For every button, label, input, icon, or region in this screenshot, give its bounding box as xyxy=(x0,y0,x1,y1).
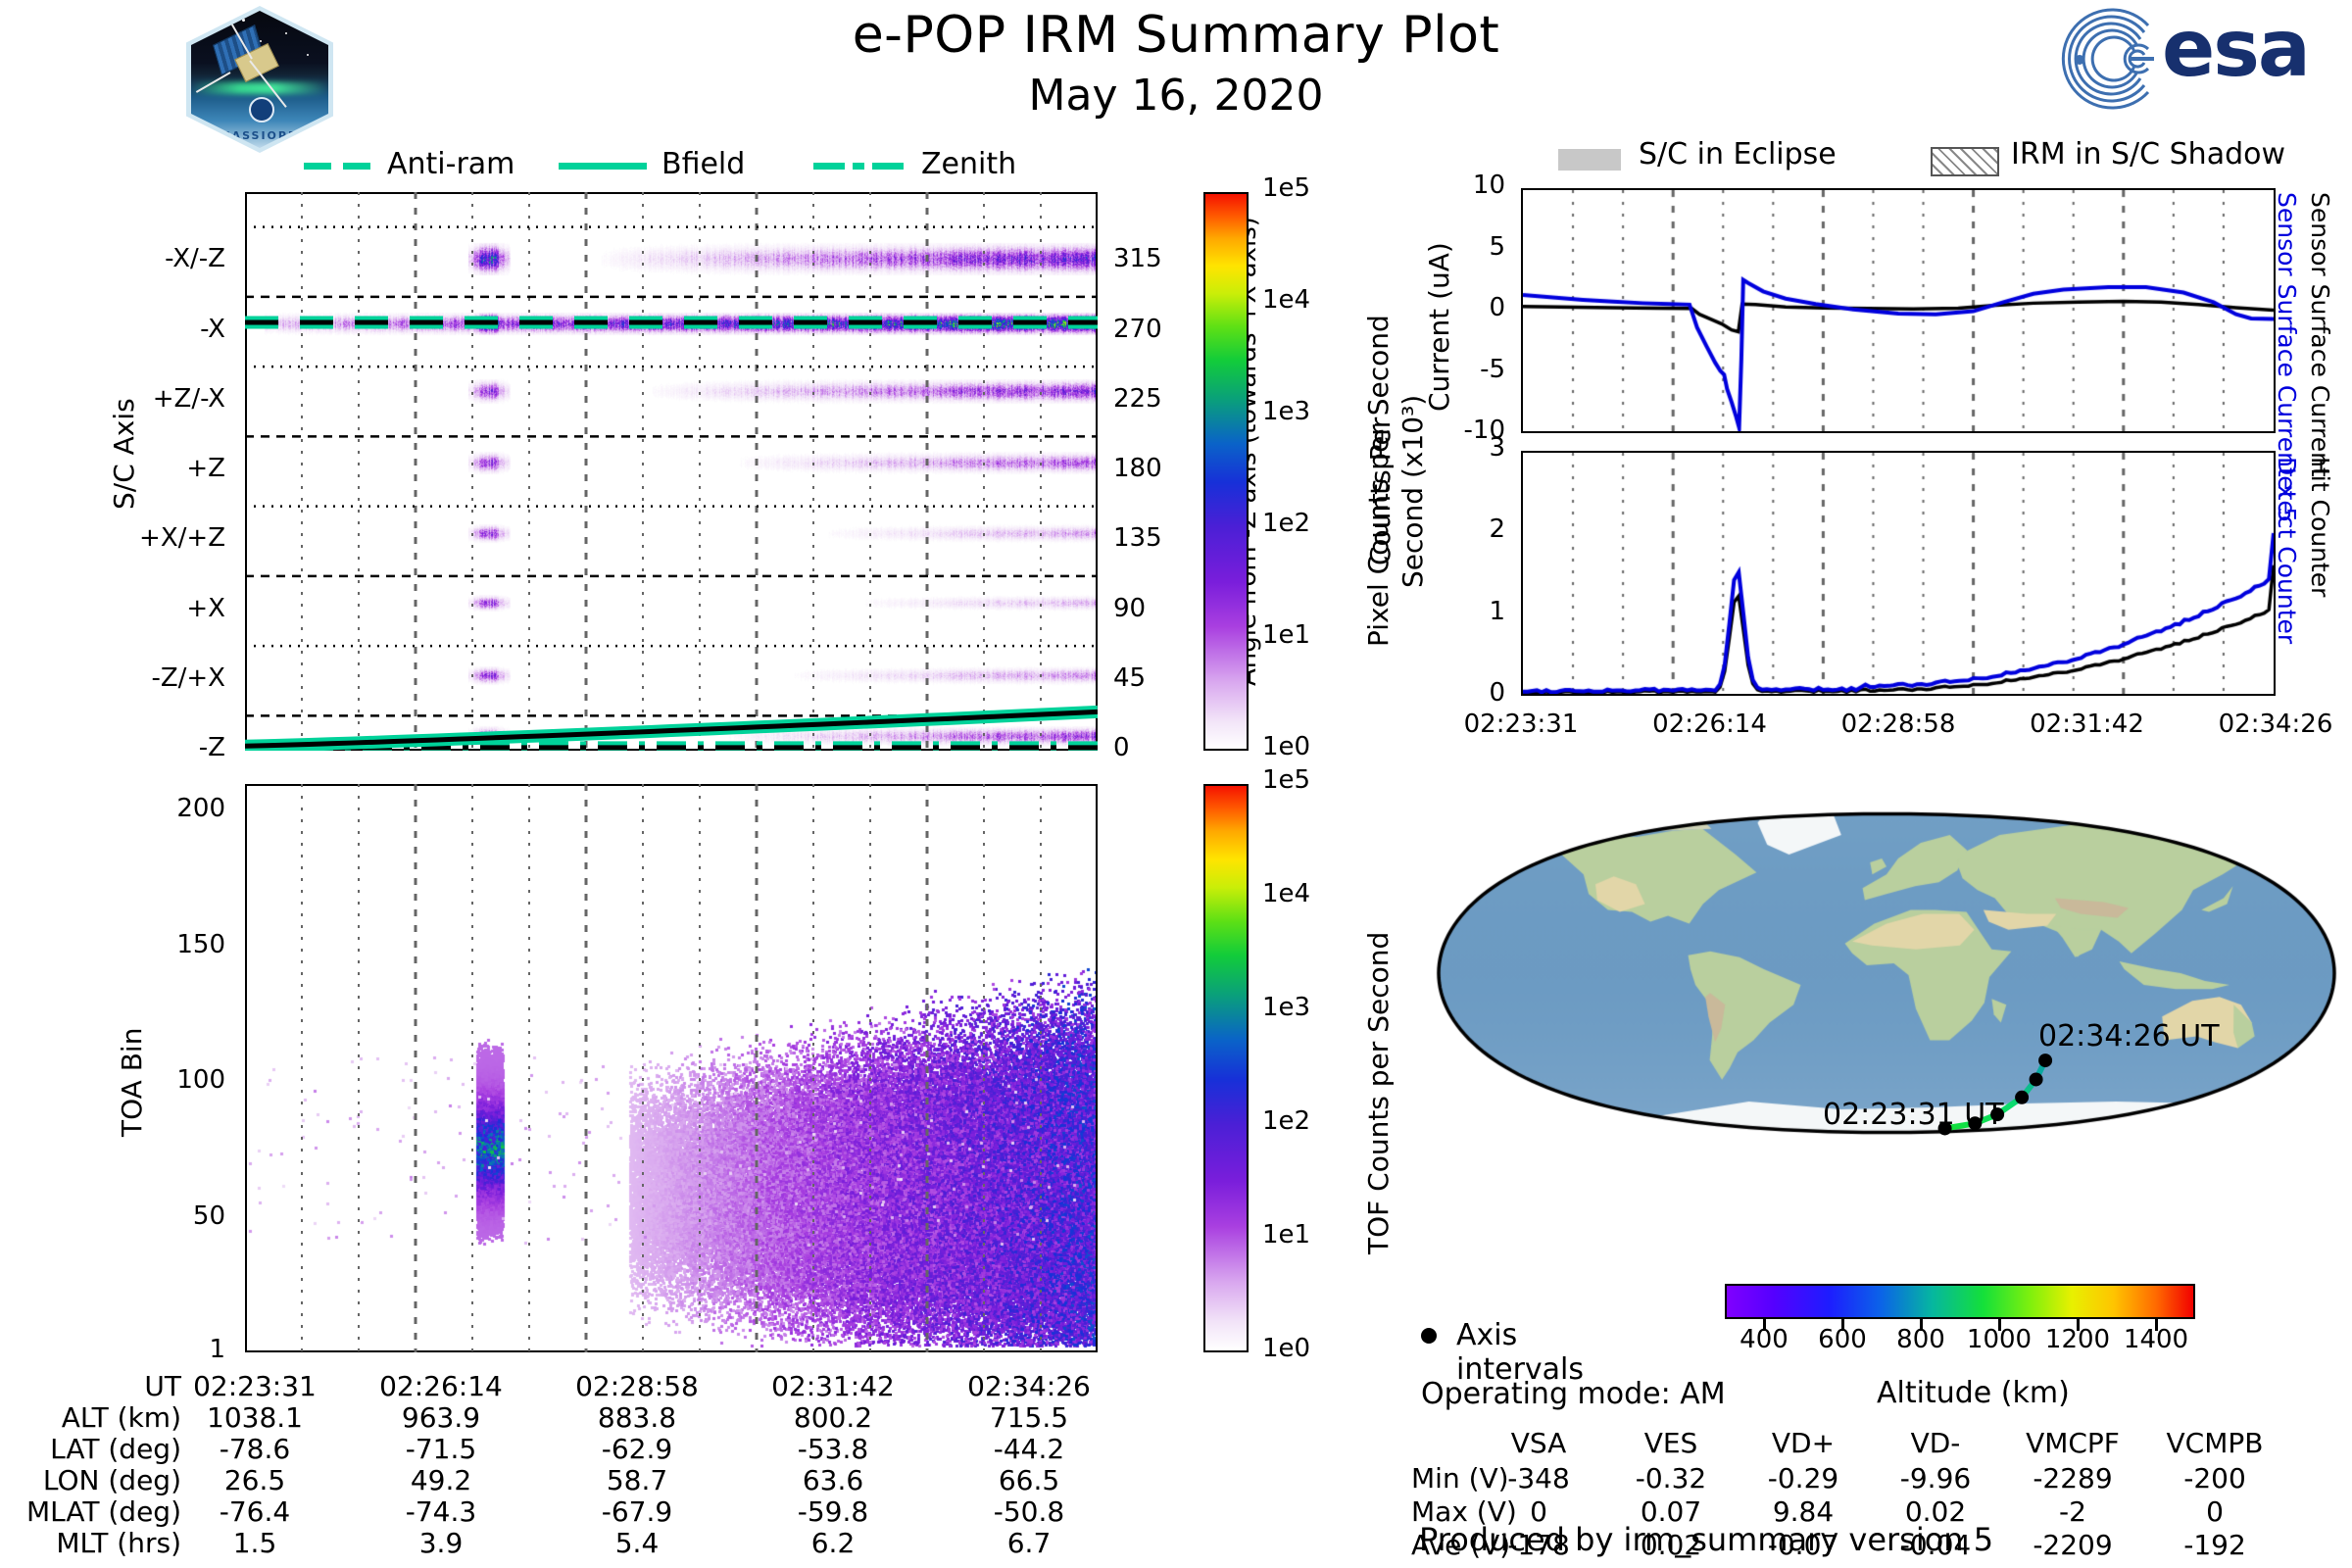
timeseries-xtick-3: 02:31:42 xyxy=(1980,710,2195,739)
operating-mode-label: Operating mode: AM xyxy=(1421,1377,1726,1411)
timeseries-xtick-1: 02:26:14 xyxy=(1602,710,1818,739)
toa-tick-4: 1 xyxy=(0,1335,225,1364)
toa-tick-0: 200 xyxy=(0,794,225,823)
toa-image xyxy=(247,786,1096,1350)
timeseries-xtick-2: 02:28:58 xyxy=(1790,710,2006,739)
track-start-label: 02:23:31 UT xyxy=(1823,1098,2004,1132)
ephemeris-cell-4-2: -67.9 xyxy=(549,1495,725,1528)
current-right-label-black: Sensor Surface Current xyxy=(2306,192,2334,477)
ephemeris-cell-1-4: 715.5 xyxy=(941,1401,1117,1434)
pixel-cb-tick-1: 1e4 xyxy=(1262,285,1310,315)
ephemeris-cell-3-2: 58.7 xyxy=(549,1464,725,1496)
ephemeris-cell-2-1: -71.5 xyxy=(353,1433,529,1465)
voltage-cell-0-3: -9.96 xyxy=(1867,1462,2004,1494)
pixel-colorbar xyxy=(1203,192,1249,751)
ephemeris-cell-0-0: 02:23:31 xyxy=(167,1370,343,1402)
toa-bin-spectrogram xyxy=(245,784,1098,1352)
voltage-table: VSAVESVD+VD-VMCPFVCMPBMin (V)-348-0.32-0… xyxy=(1411,1427,2352,1535)
legend-label-anti-ram: Anti-ram xyxy=(387,147,514,181)
ephemeris-row-label-4: MLAT (deg) xyxy=(0,1495,181,1528)
anti-ram-swatch xyxy=(304,163,331,170)
legend-label-shadow: IRM in S/C Shadow xyxy=(2011,137,2285,171)
angle-tick-7: 0 xyxy=(1113,733,1130,762)
esa-swirl-icon xyxy=(2046,6,2162,112)
tof-cb-tick-3: 1e2 xyxy=(1262,1106,1310,1136)
angle-tick-0: 315 xyxy=(1113,244,1162,273)
counts-right-label-blue: Detect Counter xyxy=(2273,457,2301,644)
timeseries-xtick-0: 02:23:31 xyxy=(1413,710,1629,739)
eclipse-swatch xyxy=(1558,149,1621,171)
spectrogram-image xyxy=(247,194,1096,749)
counts-ylabel: Counts Per Second (x10³) xyxy=(1364,395,1429,588)
orbit-track-point-3 xyxy=(2015,1091,2029,1104)
voltage-cell-1-4: -2 xyxy=(2004,1495,2141,1528)
voltage-col-header-5: VCMPB xyxy=(2146,1427,2283,1459)
ephemeris-cell-1-2: 883.8 xyxy=(549,1401,725,1434)
voltage-cell-0-0: -348 xyxy=(1470,1462,1607,1494)
ephemeris-cell-3-4: 66.5 xyxy=(941,1464,1117,1496)
current-tick-0: 10 xyxy=(1372,171,1505,200)
ephemeris-cell-5-3: 6.2 xyxy=(745,1527,921,1559)
esa-logo: esa xyxy=(2046,6,2340,114)
angle-tick-2: 225 xyxy=(1113,384,1162,414)
ephemeris-cell-0-2: 02:28:58 xyxy=(549,1370,725,1402)
altitude-colorbar-label: Altitude (km) xyxy=(1877,1376,2070,1410)
ephemeris-cell-1-0: 1038.1 xyxy=(167,1401,343,1434)
ephemeris-row-label-5: MLT (hrs) xyxy=(0,1527,181,1559)
track-end-label: 02:34:26 UT xyxy=(2038,1019,2220,1053)
page-date: May 16, 2020 xyxy=(0,71,2352,121)
pixel-cb-tick-5: 1e0 xyxy=(1262,732,1310,761)
altitude-tickmark-5 xyxy=(2155,1319,2158,1331)
pixel-cb-tick-0: 1e5 xyxy=(1262,173,1310,203)
angle-tick-3: 180 xyxy=(1113,454,1162,483)
altitude-tickmark-3 xyxy=(1998,1319,2001,1331)
legend-label-zenith: Zenith xyxy=(921,147,1016,181)
voltage-cell-2-4: -2209 xyxy=(2004,1529,2141,1561)
ephemeris-cell-0-3: 02:31:42 xyxy=(745,1370,921,1402)
orbit-track-point-5 xyxy=(2038,1053,2052,1067)
ephemeris-cell-2-2: -62.9 xyxy=(549,1433,725,1465)
voltage-cell-0-1: -0.32 xyxy=(1602,1462,1739,1494)
timeseries-legend: S/C in Eclipse IRM in S/C Shadow xyxy=(1558,139,2323,182)
voltage-cell-0-5: -200 xyxy=(2146,1462,2283,1494)
voltage-cell-2-5: -192 xyxy=(2146,1529,2283,1561)
esa-wordmark: esa xyxy=(2162,10,2309,88)
toa-tick-2: 100 xyxy=(0,1065,225,1095)
voltage-col-header-1: VES xyxy=(1602,1427,1739,1459)
ephemeris-cell-2-4: -44.2 xyxy=(941,1433,1117,1465)
tof-cb-tick-4: 1e1 xyxy=(1262,1220,1310,1249)
pixel-cb-tick-2: 1e3 xyxy=(1262,397,1310,426)
zenith-swatch-2 xyxy=(872,163,904,170)
counts-ylabel-line2: Second (x10³) xyxy=(1396,395,1429,588)
axis-interval-dot-icon xyxy=(1421,1328,1437,1344)
ephemeris-cell-3-3: 63.6 xyxy=(745,1464,921,1496)
tof-colorbar xyxy=(1203,784,1249,1352)
tof-cb-tick-5: 1e0 xyxy=(1262,1334,1310,1363)
pixel-cb-tick-3: 1e2 xyxy=(1262,509,1310,538)
tof-cb-tick-2: 1e3 xyxy=(1262,993,1310,1022)
current-ylabel: Current (uA) xyxy=(1423,242,1455,412)
zenith-swatch-dot xyxy=(853,163,864,170)
ephemeris-cell-3-1: 49.2 xyxy=(353,1464,529,1496)
voltage-cell-1-5: 0 xyxy=(2146,1495,2283,1528)
tof-cb-tick-0: 1e5 xyxy=(1262,765,1310,795)
counts-right-label-black: Hit Counter xyxy=(2306,457,2334,597)
spc-axis-tick-0: -X/-Z xyxy=(0,244,225,273)
spc-axis-tick-5: +X xyxy=(0,594,225,623)
shadow-swatch xyxy=(1931,147,1999,176)
counts-tick-3: 0 xyxy=(1372,678,1505,708)
current-plot xyxy=(1523,190,2274,431)
counts-plot xyxy=(1523,453,2274,694)
spc-axis-spectrogram xyxy=(245,192,1098,751)
ground-track-map: 02:34:26 UT 02:23:31 UT xyxy=(1431,782,2342,1164)
voltage-col-header-0: VSA xyxy=(1470,1427,1607,1459)
voltage-col-header-4: VMCPF xyxy=(2004,1427,2141,1459)
ephemeris-row-label-3: LON (deg) xyxy=(0,1464,181,1496)
spc-axis-tick-6: -Z/+X xyxy=(0,663,225,693)
voltage-cell-0-2: -0.29 xyxy=(1735,1462,1872,1494)
angle-tick-1: 270 xyxy=(1113,315,1162,344)
legend-label-eclipse: S/C in Eclipse xyxy=(1639,137,1837,171)
voltage-cell-0-4: -2289 xyxy=(2004,1462,2141,1494)
timeseries-xtick-4: 02:34:26 xyxy=(2168,710,2352,739)
ephemeris-cell-4-0: -76.4 xyxy=(167,1495,343,1528)
page-title: e-POP IRM Summary Plot xyxy=(0,6,2352,65)
angle-tick-6: 45 xyxy=(1113,663,1146,693)
altitude-tickmark-4 xyxy=(2077,1319,2080,1331)
spc-axis-tick-4: +X/+Z xyxy=(0,523,225,553)
ephemeris-table: UT02:23:3102:26:1402:28:5802:31:4202:34:… xyxy=(0,1370,1176,1566)
ephemeris-cell-5-2: 5.4 xyxy=(549,1527,725,1559)
anti-ram-swatch-2 xyxy=(343,163,370,170)
counts-ylabel-line1: Counts Per xyxy=(1364,417,1396,565)
ephemeris-cell-4-1: -74.3 xyxy=(353,1495,529,1528)
legend-label-bfield: Bfield xyxy=(661,147,745,181)
angle-tick-4: 135 xyxy=(1113,523,1162,553)
altitude-tickmark-2 xyxy=(1920,1319,1923,1331)
zenith-swatch-1 xyxy=(813,163,845,170)
voltage-col-header-3: VD- xyxy=(1867,1427,2004,1459)
ephemeris-cell-0-1: 02:26:14 xyxy=(353,1370,529,1402)
altitude-tickmark-1 xyxy=(1841,1319,1844,1331)
toa-tick-1: 150 xyxy=(0,930,225,959)
ephemeris-row-label-0: UT xyxy=(0,1370,181,1402)
ephemeris-cell-1-3: 800.2 xyxy=(745,1401,921,1434)
orbit-track-point-4 xyxy=(2030,1072,2043,1086)
spectrogram-legend: Anti-ram Bfield Zenith xyxy=(284,145,990,188)
ephemeris-cell-4-4: -50.8 xyxy=(941,1495,1117,1528)
ephemeris-cell-5-1: 3.9 xyxy=(353,1527,529,1559)
pixel-cb-tick-4: 1e1 xyxy=(1262,620,1310,650)
toa-ylabel: TOA Bin xyxy=(116,1028,148,1137)
current-panel xyxy=(1521,188,2276,433)
tof-cb-tick-1: 1e4 xyxy=(1262,879,1310,908)
toa-tick-3: 50 xyxy=(0,1201,225,1231)
ephemeris-cell-4-3: -59.8 xyxy=(745,1495,921,1528)
counts-tick-2: 1 xyxy=(1372,597,1505,626)
ephemeris-cell-2-3: -53.8 xyxy=(745,1433,921,1465)
tof-colorbar-label: TOF Counts per Second xyxy=(1362,932,1395,1254)
counts-panel xyxy=(1521,451,2276,696)
ephemeris-row-label-1: ALT (km) xyxy=(0,1401,181,1434)
voltage-col-header-2: VD+ xyxy=(1735,1427,1872,1459)
angle-tick-5: 90 xyxy=(1113,594,1146,623)
spc-axis-ylabel: S/C Axis xyxy=(108,398,140,510)
spc-axis-tick-7: -Z xyxy=(0,733,225,762)
altitude-tickmark-0 xyxy=(1763,1319,1766,1331)
ephemeris-row-label-2: LAT (deg) xyxy=(0,1433,181,1465)
ephemeris-cell-0-4: 02:34:26 xyxy=(941,1370,1117,1402)
ephemeris-cell-3-0: 26.5 xyxy=(167,1464,343,1496)
ephemeris-cell-1-1: 963.9 xyxy=(353,1401,529,1434)
ephemeris-cell-5-4: 6.7 xyxy=(941,1527,1117,1559)
ephemeris-cell-5-0: 1.5 xyxy=(167,1527,343,1559)
badge-wordmark: CASSIOPE xyxy=(191,129,328,142)
bfield-swatch xyxy=(559,163,647,170)
ephemeris-cell-2-0: -78.6 xyxy=(167,1433,343,1465)
spc-axis-tick-1: -X xyxy=(0,315,225,344)
footer-produced-by: Produced by irm_summary version 5 xyxy=(1419,1521,1993,1558)
altitude-colorbar xyxy=(1725,1284,2195,1319)
